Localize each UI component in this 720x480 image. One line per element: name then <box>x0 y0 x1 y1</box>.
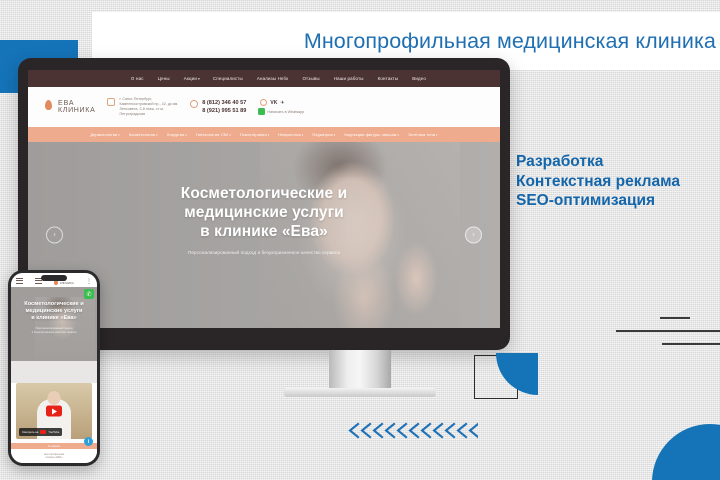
headset-icon <box>190 100 198 108</box>
logo-line-1: ЕВА <box>58 100 95 107</box>
chevron-down-icon: ▾ <box>156 133 158 137</box>
watch-on-youtube-button[interactable]: Смотреть на YouTube <box>19 428 62 436</box>
service-line-development: Разработка <box>516 152 680 172</box>
nav-item-video[interactable]: Видео <box>412 76 427 81</box>
decor-line-2 <box>616 330 720 332</box>
map-pin-icon <box>107 98 115 106</box>
site-top-navigation[interactable]: О нас Цены Акции▾ Специалисты Анализы He… <box>28 70 500 87</box>
nav-item-specialists[interactable]: Специалисты <box>213 76 244 81</box>
chevron-down-icon: ▾ <box>334 133 336 137</box>
subnav-item-pediatrics[interactable]: Педиатрия▾ <box>312 132 335 137</box>
chevron-row-icon <box>346 421 478 441</box>
hero-text-block: Косметологические и медицинские услуги в… <box>28 184 500 255</box>
logo-line-2: КЛИНИКА <box>58 107 95 114</box>
mobile-screen: ЕВА КЛИНИКА ⋮ Косметологические и медици… <box>11 273 97 463</box>
nav-item-promos[interactable]: Акции▾ <box>184 76 200 81</box>
slider-next-arrow-icon[interactable]: › <box>465 227 482 244</box>
nav-item-about[interactable]: О нас <box>131 76 145 81</box>
monitor-stand-neck <box>329 350 391 390</box>
youtube-logo-icon <box>40 430 46 434</box>
hero-heading: Косметологические и медицинские услуги в… <box>66 184 462 241</box>
nav-item-prices[interactable]: Цены <box>158 76 171 81</box>
blue-circle-decor <box>652 424 720 480</box>
subnav-item-dermatology[interactable]: Дерматология▾ <box>90 132 120 137</box>
whatsapp-floating-icon[interactable]: ✆ <box>84 289 94 299</box>
chevron-down-icon: ▾ <box>397 133 399 137</box>
vk-icon[interactable]: VK <box>270 100 277 106</box>
whatsapp-label[interactable]: Написать в Whatsapp <box>267 110 304 114</box>
site-logo[interactable]: ЕВА КЛИНИКА <box>42 100 95 115</box>
subnav-item-body-correction-massage[interactable]: Коррекция фигуры, массаж▾ <box>344 132 399 137</box>
hero-subheading: Персонализированный подход и безукоризне… <box>66 250 462 255</box>
clinic-address: г. Санкт-Петербург, Каменноостровский пр… <box>119 97 178 118</box>
decor-line-3 <box>662 343 720 345</box>
doctor-head-shape <box>48 391 61 405</box>
site-header: ЕВА КЛИНИКА г. Санкт-Петербург, Каменноо… <box>28 87 500 127</box>
chevron-down-icon: ▾ <box>118 133 120 137</box>
slider-prev-arrow-icon[interactable]: ‹ <box>46 227 63 244</box>
nav-item-contacts[interactable]: Контакты <box>378 76 400 81</box>
mobile-phone-mockup: ЕВА КЛИНИКА ⋮ Косметологические и медици… <box>8 270 100 466</box>
monitor-stand-base <box>284 388 436 397</box>
chevron-down-icon: ▾ <box>302 133 304 137</box>
mobile-video-card[interactable]: Смотреть на YouTube <box>16 383 92 439</box>
mobile-footer-line-2: клиника «ЕВА» <box>46 456 63 459</box>
social-block: VK ✈ Написать в Whatsapp <box>258 99 304 115</box>
flame-logo-icon <box>42 100 55 115</box>
mobile-hero-heading: Косметологические и медицинские услуги в… <box>11 301 97 322</box>
services-headline: Разработка Контекстная реклама SEO-оптим… <box>516 152 680 211</box>
telegram-icon[interactable]: ✈ <box>280 100 284 106</box>
whatsapp-icon[interactable] <box>258 108 265 115</box>
chevron-down-icon: ▾ <box>198 77 200 81</box>
mobile-footer: многопрофильная клиника «ЕВА» <box>11 449 97 463</box>
site-category-navigation[interactable]: Дерматология▾ Косметология▾ Хирургия▾ Ги… <box>28 127 500 142</box>
whatsapp-row[interactable]: Написать в Whatsapp <box>258 108 304 115</box>
nav-item-helix-tests[interactable]: Анализы Helix <box>257 76 290 81</box>
watch-label: Смотреть на <box>22 430 38 434</box>
phone-block[interactable]: 8 (812) 346 40 57 8 (921) 995 51 89 <box>190 99 246 115</box>
subnav-item-psychotherapy[interactable]: Психотерапия▾ <box>240 132 269 137</box>
chevron-down-icon: ▾ <box>185 133 187 137</box>
nav-item-reviews[interactable]: Отзывы <box>302 76 320 81</box>
subnav-item-cosmetology[interactable]: Косметология▾ <box>129 132 158 137</box>
address-block: г. Санкт-Петербург, Каменноостровский пр… <box>107 97 178 118</box>
social-icons-row[interactable]: VK ✈ <box>260 99 304 106</box>
subnav-item-body-aesthetics[interactable]: Эстетика тела▾ <box>408 132 438 137</box>
user-circle-icon[interactable] <box>260 99 267 106</box>
youtube-brand-label: YouTube <box>48 430 59 434</box>
subnav-item-gynecology-ultrasound[interactable]: Гинекология УЗИ▾ <box>196 132 231 137</box>
decor-line-1 <box>660 317 690 319</box>
info-floating-button[interactable]: i <box>84 437 93 446</box>
youtube-play-button[interactable] <box>46 406 62 417</box>
subnav-item-neurology[interactable]: Неврология▾ <box>278 132 303 137</box>
poster-canvas: Многопрофильная медицинская клиника Разр… <box>0 0 720 480</box>
mobile-logo-line-2: КЛИНИКА <box>60 282 74 285</box>
mobile-hero-subheading: Персонализированный подход и безукоризне… <box>11 327 97 334</box>
nav-item-our-works[interactable]: Наши работы <box>334 76 365 81</box>
subnav-item-surgery[interactable]: Хирургия▾ <box>167 132 187 137</box>
service-line-contextual-ads: Контекстная реклама <box>516 172 680 192</box>
hamburger-menu-icon[interactable] <box>16 278 23 285</box>
mobile-section-label: О клинике <box>48 445 60 448</box>
chevron-down-icon: ▾ <box>436 133 438 137</box>
clinic-phones[interactable]: 8 (812) 346 40 57 8 (921) 995 51 89 <box>202 99 246 115</box>
service-line-seo: SEO-оптимизация <box>516 191 680 211</box>
phone-notch <box>41 275 67 281</box>
more-options-icon[interactable]: ⋮ <box>86 279 92 285</box>
mobile-content-gap <box>11 361 97 383</box>
chevron-down-icon: ▾ <box>268 133 270 137</box>
chevron-down-icon: ▾ <box>229 133 231 137</box>
